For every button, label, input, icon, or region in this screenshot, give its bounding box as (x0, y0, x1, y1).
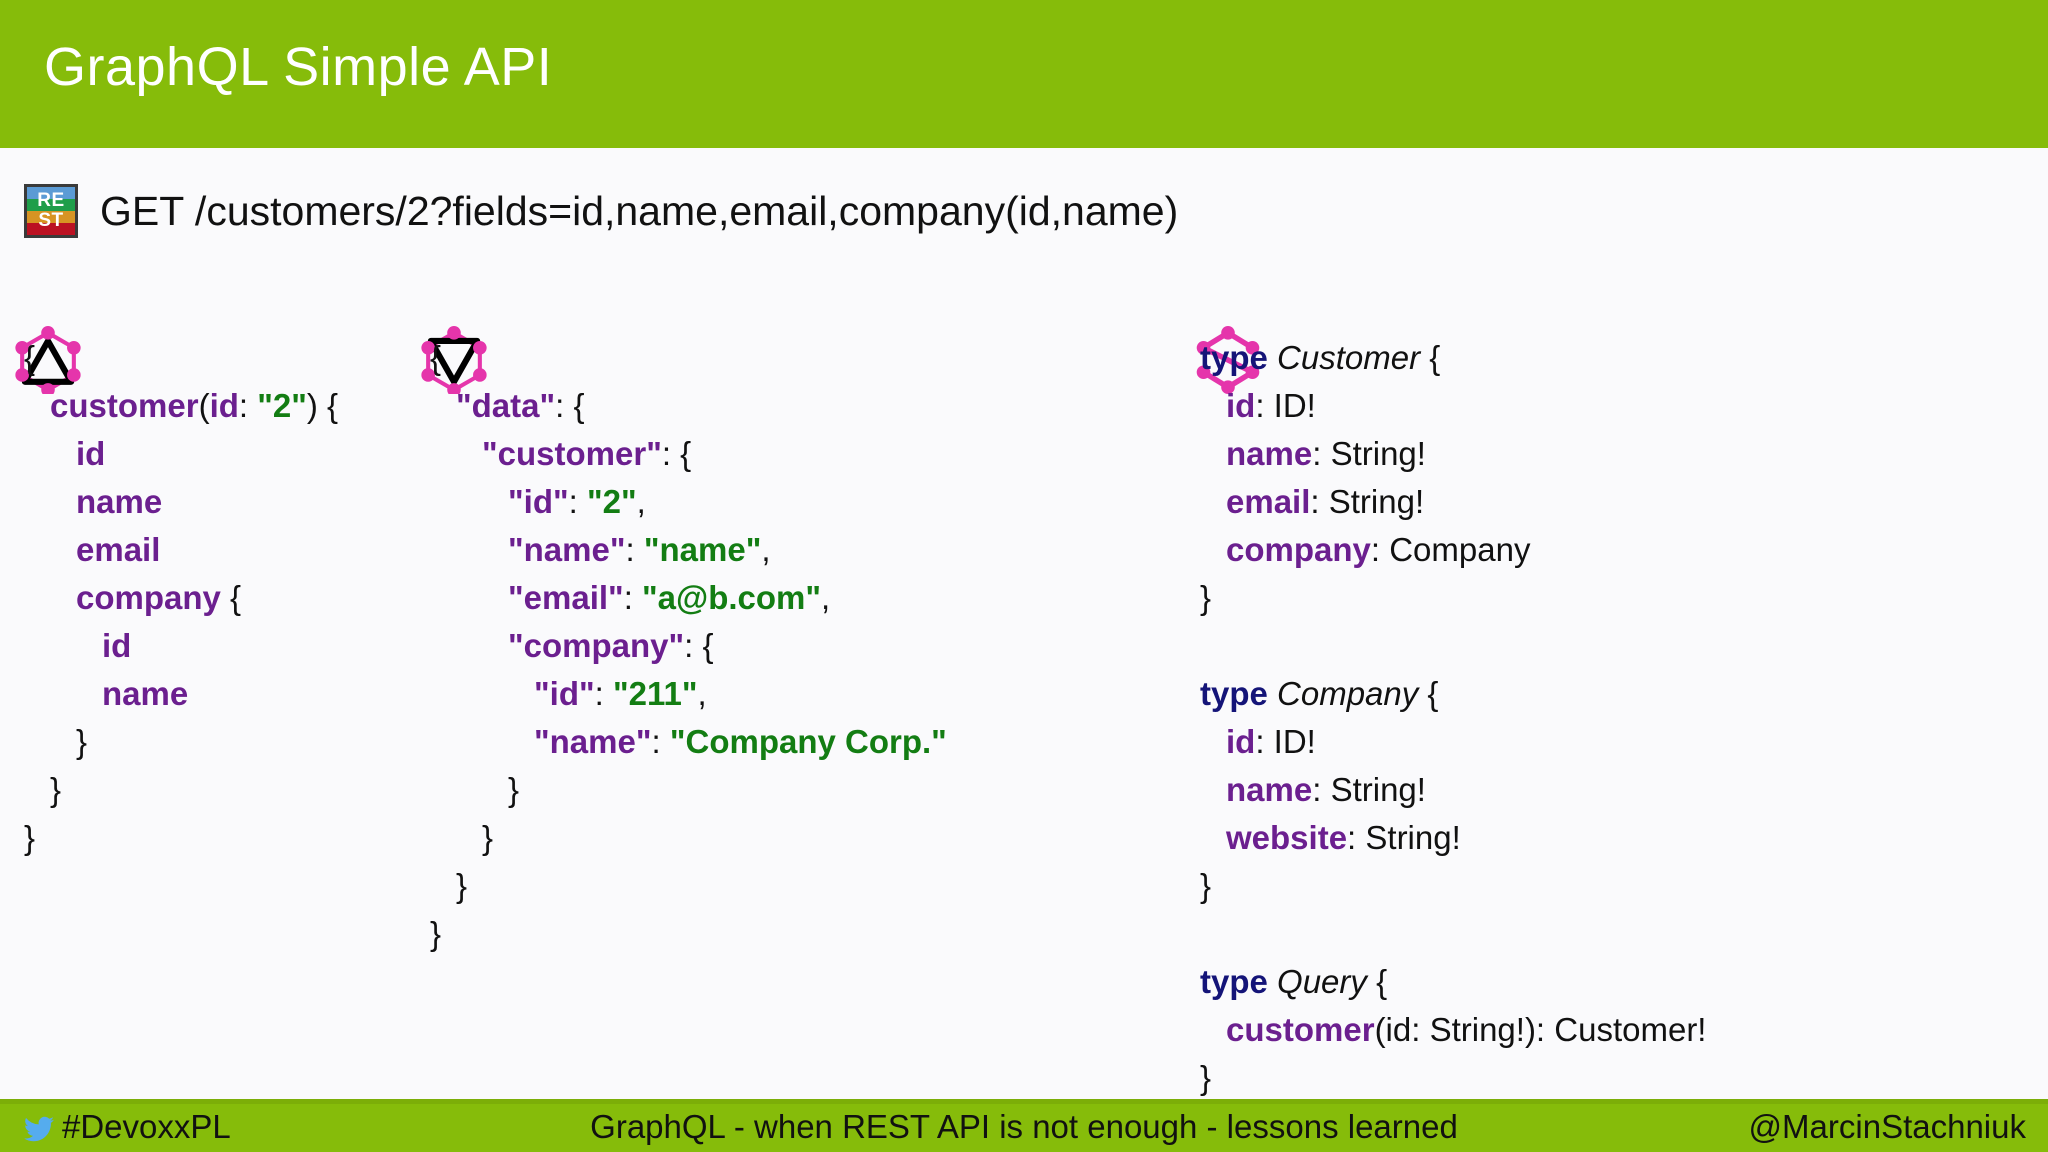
code-token-plain: String! (1329, 483, 1424, 520)
code-line: id (24, 622, 338, 670)
code-token-punct: , (821, 579, 830, 616)
code-token-key: id (102, 627, 131, 664)
code-token-str: "Company Corp." (670, 723, 947, 760)
code-line: email: String! (1200, 478, 1706, 526)
code-token-plain: String! (1365, 819, 1460, 856)
graphql-schema-code-block: type Customer {id: ID!name: String!email… (1200, 334, 1706, 1102)
code-line: { (24, 334, 338, 382)
code-token-key: id (76, 435, 105, 472)
code-token-key: id (1226, 387, 1255, 424)
code-line: { (430, 334, 947, 382)
code-token-punct: { (1367, 963, 1387, 1000)
rest-icon: RE ST (24, 184, 78, 238)
footer-talk-title: GraphQL - when REST API is not enough - … (0, 1108, 2048, 1146)
code-line: name (24, 478, 338, 526)
code-token-plain: ID! (1274, 723, 1316, 760)
code-token-punct: } (430, 915, 441, 952)
code-token-punct: } (1200, 1059, 1211, 1096)
code-line: } (430, 910, 947, 958)
code-token-type: type (1200, 963, 1268, 1000)
code-line: company: Company (1200, 526, 1706, 574)
code-token-punct: : (626, 531, 644, 568)
code-line: } (1200, 1054, 1706, 1102)
code-line: name (24, 670, 338, 718)
graphql-response-code-block: {"data": {"customer": {"id": "2","name":… (430, 334, 947, 958)
code-token-key: name (102, 675, 188, 712)
code-token-key: id (210, 387, 239, 424)
code-line: } (1200, 862, 1706, 910)
code-token-punct: : (1312, 771, 1330, 808)
code-token-punct: , (761, 531, 770, 568)
code-token-name: Company (1277, 675, 1418, 712)
code-token-name: Query (1277, 963, 1367, 1000)
code-token-punct: { (221, 579, 241, 616)
code-line: "data": { (430, 382, 947, 430)
rest-request-row: RE ST GET /customers/2?fields=id,name,em… (24, 184, 1178, 238)
code-line (1200, 910, 1706, 958)
code-token-key: customer (1226, 1011, 1375, 1048)
code-token-punct: : { (662, 435, 691, 472)
code-token-punct: : { (555, 387, 584, 424)
code-token-key: name (1226, 435, 1312, 472)
code-line: id (24, 430, 338, 478)
code-token-punct: , (637, 483, 646, 520)
code-token-key: "customer" (482, 435, 662, 472)
code-line: } (430, 766, 947, 814)
code-token-plain (1268, 339, 1277, 376)
code-token-punct: : (1310, 483, 1328, 520)
code-token-plain (1268, 675, 1277, 712)
code-token-str: "a@b.com" (642, 579, 821, 616)
code-token-name: Customer (1277, 339, 1420, 376)
code-token-punct: : (1347, 819, 1365, 856)
code-token-str: "211" (613, 675, 698, 712)
code-token-plain: Company (1389, 531, 1530, 568)
code-token-punct: ) { (307, 387, 338, 424)
code-token-str: "2" (257, 387, 307, 424)
code-line: } (24, 766, 338, 814)
code-token-key: name (76, 483, 162, 520)
slide-content: RE ST GET /customers/2?fields=id,name,em… (0, 148, 2048, 1104)
code-token-punct: : (624, 579, 642, 616)
code-line: name: String! (1200, 430, 1706, 478)
code-token-key: company (1226, 531, 1371, 568)
code-token-type: type (1200, 675, 1268, 712)
code-token-key: "id" (534, 675, 595, 712)
slide-header-bar: GraphQL Simple API (0, 0, 2048, 148)
code-token-punct: : (569, 483, 587, 520)
code-token-type: type (1200, 339, 1268, 376)
code-token-plain: String! (1331, 435, 1426, 472)
code-token-key: email (1226, 483, 1310, 520)
code-token-punct: , (698, 675, 707, 712)
code-line: "company": { (430, 622, 947, 670)
slide-footer-bar: #DevoxxPL GraphQL - when REST API is not… (0, 1104, 2048, 1152)
code-token-key: "email" (508, 579, 624, 616)
code-token-key: company (76, 579, 221, 616)
code-token-punct: ( (199, 387, 210, 424)
code-line: "id": "211", (430, 670, 947, 718)
code-line: "name": "Company Corp." (430, 718, 947, 766)
code-line: id: ID! (1200, 382, 1706, 430)
code-line: type Query { (1200, 958, 1706, 1006)
code-line: customer(id: String!): Customer! (1200, 1006, 1706, 1054)
code-token-key: id (1226, 723, 1255, 760)
code-token-key: "company" (508, 627, 684, 664)
code-token-punct: { (1420, 339, 1440, 376)
code-line: email (24, 526, 338, 574)
code-token-key: "id" (508, 483, 569, 520)
code-token-key: name (1226, 771, 1312, 808)
code-token-punct: : (1371, 531, 1389, 568)
rest-icon-letters: RE ST (27, 187, 75, 235)
code-line: } (24, 814, 338, 862)
code-line (1200, 622, 1706, 670)
code-line: id: ID! (1200, 718, 1706, 766)
code-token-punct: } (24, 819, 35, 856)
code-line: } (430, 862, 947, 910)
code-line: } (430, 814, 947, 862)
code-token-plain: (id: String!): Customer! (1375, 1011, 1707, 1048)
code-token-str: "2" (587, 483, 637, 520)
code-token-plain (1268, 963, 1277, 1000)
code-line: "email": "a@b.com", (430, 574, 947, 622)
code-line: "customer": { (430, 430, 947, 478)
code-token-punct: : { (684, 627, 713, 664)
code-token-punct: } (1200, 579, 1211, 616)
code-token-key: "data" (456, 387, 555, 424)
code-token-key: "name" (508, 531, 626, 568)
code-line: name: String! (1200, 766, 1706, 814)
code-token-punct: } (1200, 867, 1211, 904)
code-token-punct: : (1255, 387, 1273, 424)
code-token-punct: } (456, 867, 467, 904)
code-line: customer(id: "2") { (24, 382, 338, 430)
code-line: "id": "2", (430, 478, 947, 526)
code-line: website: String! (1200, 814, 1706, 862)
code-token-punct: : (595, 675, 613, 712)
rest-request-text: GET /customers/2?fields=id,name,email,co… (100, 188, 1178, 235)
code-token-punct: } (50, 771, 61, 808)
code-line: type Customer { (1200, 334, 1706, 382)
graphql-query-code-block: {customer(id: "2") {idnameemailcompany {… (24, 334, 338, 862)
rest-icon-label-bottom: ST (38, 211, 63, 231)
code-token-key: website (1226, 819, 1347, 856)
code-line: } (24, 718, 338, 766)
code-token-str: "name" (644, 531, 762, 568)
code-token-punct: { (24, 339, 35, 376)
code-line: } (1200, 574, 1706, 622)
code-line: company { (24, 574, 338, 622)
code-line: "name": "name", (430, 526, 947, 574)
code-token-punct: { (430, 339, 441, 376)
page-title: GraphQL Simple API (44, 36, 552, 98)
code-token-punct: : (1255, 723, 1273, 760)
code-token-key: email (76, 531, 160, 568)
code-token-punct: { (1418, 675, 1438, 712)
code-token-punct: : (1312, 435, 1330, 472)
code-token-plain: ID! (1274, 387, 1316, 424)
code-token-punct: : (239, 387, 257, 424)
code-token-plain: String! (1331, 771, 1426, 808)
code-token-key: "name" (534, 723, 652, 760)
rest-icon-label-top: RE (37, 191, 64, 211)
code-line: type Company { (1200, 670, 1706, 718)
code-token-key: customer (50, 387, 199, 424)
code-token-punct: : (652, 723, 670, 760)
code-token-punct: } (508, 771, 519, 808)
code-token-punct: } (76, 723, 87, 760)
footer-speaker-handle: @MarcinStachniuk (1749, 1108, 2026, 1146)
code-token-punct: } (482, 819, 493, 856)
